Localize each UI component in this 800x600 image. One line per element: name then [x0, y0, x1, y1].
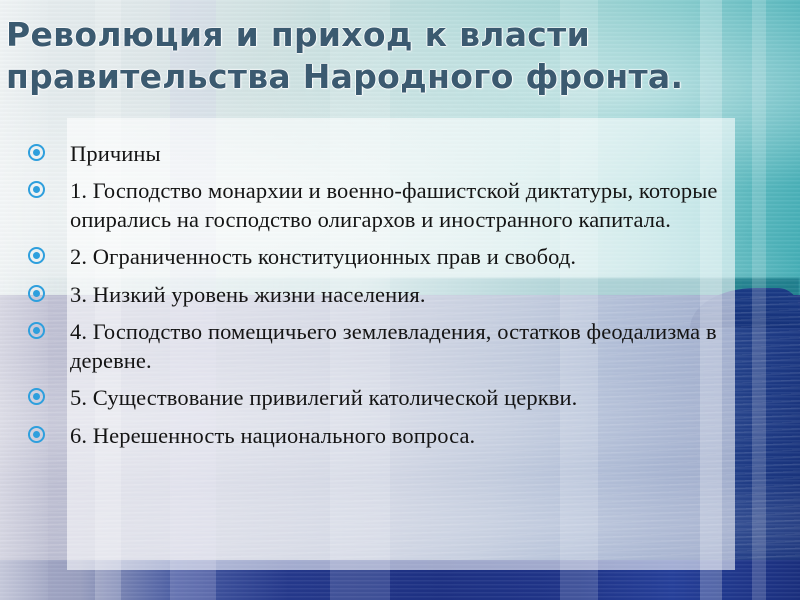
target-bullet-icon	[28, 322, 45, 339]
list-item: 4. Господство помещичьего землевладения,…	[22, 318, 752, 375]
list-item: 1. Господство монархии и военно-фашистск…	[22, 177, 752, 234]
bullet-list: Причины 1. Господство монархии и военно-…	[22, 140, 752, 459]
list-item-text: 3. Низкий уровень жизни населения.	[70, 282, 426, 307]
list-item: 5. Существование привилегий католической…	[22, 384, 752, 412]
list-item-text: 2. Ограниченность конституционных прав и…	[70, 244, 576, 269]
slide-title: Революция и приход к власти правительств…	[6, 14, 786, 98]
target-bullet-icon	[28, 144, 45, 161]
presentation-slide: Революция и приход к власти правительств…	[0, 0, 800, 600]
list-item-text: 4. Господство помещичьего землевладения,…	[70, 319, 717, 372]
list-item-text: Причины	[70, 141, 161, 166]
target-bullet-icon	[28, 426, 45, 443]
list-item-text: 1. Господство монархии и военно-фашистск…	[70, 178, 718, 231]
target-bullet-icon	[28, 285, 45, 302]
target-bullet-icon	[28, 181, 45, 198]
target-bullet-icon	[28, 247, 45, 264]
target-bullet-icon	[28, 388, 45, 405]
list-item: Причины	[22, 140, 752, 168]
list-item: 3. Низкий уровень жизни населения.	[22, 281, 752, 309]
list-item-text: 5. Существование привилегий католической…	[70, 385, 577, 410]
list-item: 6. Нерешенность национального вопроса.	[22, 422, 752, 450]
list-item: 2. Ограниченность конституционных прав и…	[22, 243, 752, 271]
list-item-text: 6. Нерешенность национального вопроса.	[70, 423, 475, 448]
